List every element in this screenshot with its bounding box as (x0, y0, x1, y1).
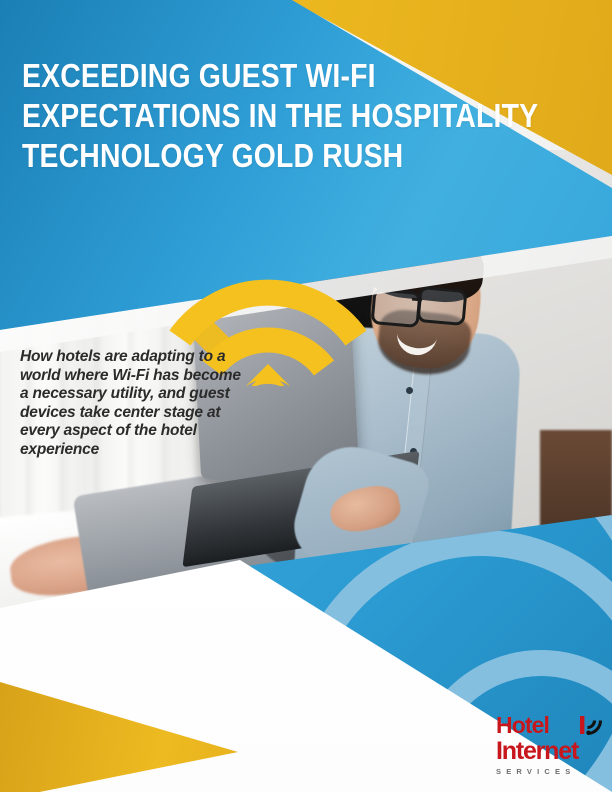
photo-eyeglass-right (417, 286, 468, 326)
cover-page: EXCEEDING GUEST WI-FI EXPECTATIONS IN TH… (0, 0, 612, 792)
logo-word-hotel: Hotel (496, 712, 549, 738)
subtitle-text: How hotels are adapting to a world where… (20, 348, 250, 460)
page-title: EXCEEDING GUEST WI-FI EXPECTATIONS IN TH… (22, 56, 426, 176)
logo-wifi-icon (580, 713, 606, 740)
title-line-2: EXPECTATIONS IN THE HOSPITALITY (22, 96, 426, 136)
logo-word-internet: Internet (496, 737, 578, 765)
photo-eyeglass-left (371, 288, 422, 328)
logo-line-2-row: Internet (496, 739, 606, 764)
logo-tagline: SERVICES (496, 767, 606, 776)
logo-line-1-row: Hotel (496, 714, 606, 739)
photo-shirt-button (406, 387, 413, 394)
company-logo[interactable]: Hotel Internet SERVICES (496, 714, 606, 776)
title-line-1: EXCEEDING GUEST WI-FI (22, 56, 426, 96)
title-line-3: TECHNOLOGY GOLD RUSH (22, 136, 426, 176)
